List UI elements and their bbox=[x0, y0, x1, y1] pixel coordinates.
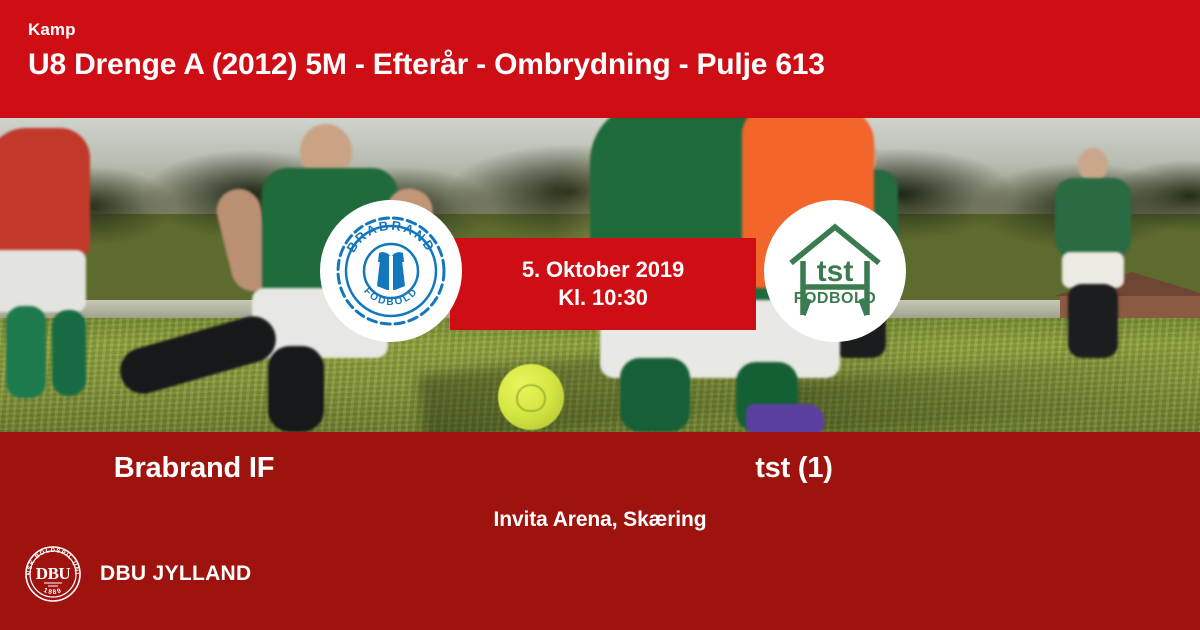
svg-text:DBU: DBU bbox=[36, 564, 71, 583]
match-venue: Invita Arena, Skæring bbox=[0, 508, 1200, 532]
photo-player bbox=[620, 358, 690, 432]
svg-text:FODBOLD: FODBOLD bbox=[794, 290, 877, 307]
organisation-footer: DANSK BOLDSPIL UNION 1889 DBU DBU JYLLAN… bbox=[24, 545, 251, 603]
away-team-name: tst (1) bbox=[600, 448, 1200, 488]
photo-player bbox=[268, 346, 324, 432]
home-team-name: Brabrand IF bbox=[0, 448, 600, 488]
page-title: U8 Drenge A (2012) 5M - Efterår - Ombryd… bbox=[28, 46, 1200, 84]
photo-football-boot bbox=[746, 404, 824, 432]
svg-text:tst: tst bbox=[817, 255, 854, 288]
photo-player bbox=[0, 128, 90, 258]
home-team-logo: BRABRAND FODBOLD bbox=[320, 200, 462, 342]
photo-player bbox=[52, 310, 86, 396]
photo-player bbox=[1055, 178, 1131, 258]
header-kicker: Kamp bbox=[28, 20, 1200, 40]
brabrand-if-crest-icon: BRABRAND FODBOLD bbox=[332, 212, 450, 330]
photo-player bbox=[1078, 148, 1108, 182]
away-team-logo: tst FODBOLD bbox=[764, 200, 906, 342]
photo-player bbox=[6, 306, 46, 398]
photo-player bbox=[1068, 284, 1118, 358]
photo-player bbox=[1062, 252, 1124, 288]
teams-row: Brabrand IF tst (1) bbox=[0, 448, 1200, 488]
svg-text:1889: 1889 bbox=[43, 587, 64, 596]
photo-player bbox=[0, 250, 86, 312]
photo-football bbox=[498, 364, 564, 430]
svg-text:BRABRAND: BRABRAND bbox=[343, 218, 438, 255]
dbu-crest-icon: DANSK BOLDSPIL UNION 1889 DBU bbox=[24, 545, 82, 603]
poster-header: Kamp U8 Drenge A (2012) 5M - Efterår - O… bbox=[0, 0, 1200, 118]
tst-fodbold-crest-icon: tst FODBOLD bbox=[779, 215, 891, 327]
match-date-banner: 5. Oktober 2019 Kl. 10:30 bbox=[450, 238, 756, 330]
match-poster: Kamp U8 Drenge A (2012) 5M - Efterår - O… bbox=[0, 0, 1200, 630]
match-date: 5. Oktober 2019 bbox=[522, 256, 684, 284]
organisation-name: DBU JYLLAND bbox=[100, 562, 251, 586]
match-time: Kl. 10:30 bbox=[558, 284, 648, 312]
